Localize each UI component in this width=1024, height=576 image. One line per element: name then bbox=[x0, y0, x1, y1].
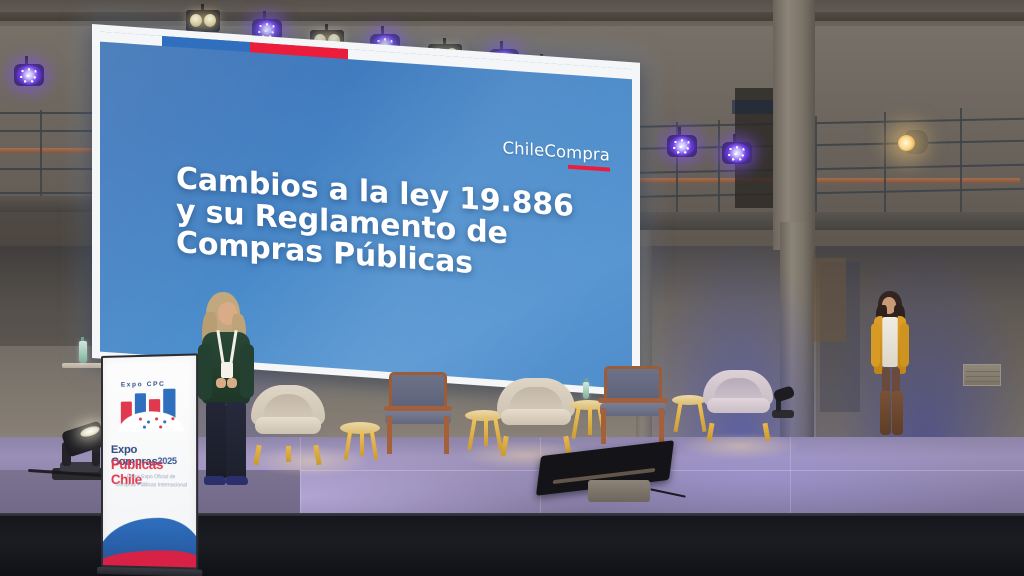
speaker-leg bbox=[226, 402, 246, 480]
stool-leg bbox=[588, 407, 592, 435]
wooden-armchair bbox=[600, 366, 666, 440]
logo-dot bbox=[159, 425, 162, 428]
stool-leg bbox=[484, 418, 488, 446]
water-bottle bbox=[583, 382, 589, 399]
armchair-seat bbox=[501, 409, 571, 426]
chair-leg bbox=[659, 408, 664, 444]
par-led-light bbox=[12, 62, 46, 88]
par-led-light bbox=[665, 133, 699, 159]
projection-screen: ChileCompra Cambios a la ley 19.886 y su… bbox=[92, 24, 640, 397]
chair-seat bbox=[600, 403, 666, 416]
attendee-boot bbox=[880, 391, 891, 435]
speaker-shoe bbox=[226, 476, 248, 485]
logo-dot bbox=[147, 420, 150, 423]
mezzanine-rail-post bbox=[815, 116, 817, 212]
logo-dot bbox=[163, 420, 166, 423]
concrete-column-upper bbox=[773, 0, 815, 250]
chair-leg bbox=[601, 408, 606, 444]
chair-leg bbox=[444, 416, 449, 454]
logo-dot bbox=[143, 426, 146, 429]
tub-armchair bbox=[497, 378, 575, 442]
chair-seat bbox=[385, 410, 451, 424]
speaker-arm bbox=[240, 344, 254, 398]
banner-subtitle-line-2: Compras Públicas Internacional bbox=[113, 482, 190, 490]
speaker-arm bbox=[198, 344, 212, 400]
chair-leg bbox=[387, 416, 392, 454]
attendee-arm bbox=[900, 323, 909, 367]
logo-dot bbox=[155, 417, 158, 420]
par-led-light bbox=[720, 140, 754, 166]
warm-spotlight bbox=[898, 130, 928, 156]
water-bottle bbox=[79, 341, 87, 363]
chair-armrest bbox=[384, 406, 452, 411]
banner-frame: Expo CPC Expo Compras2025 bbox=[101, 353, 198, 569]
banner-eyebrow: Expo CPC bbox=[121, 381, 166, 389]
speaker-leg bbox=[206, 402, 226, 480]
mezzanine-slab-right bbox=[630, 212, 1024, 230]
slide-surface: ChileCompra Cambios a la ley 19.886 y su… bbox=[100, 32, 632, 390]
logo-dot bbox=[171, 417, 174, 420]
mezzanine-rail-post bbox=[884, 112, 886, 212]
wall-vent bbox=[963, 364, 1001, 386]
blinder-light bbox=[186, 10, 220, 32]
attendee-person bbox=[868, 291, 912, 443]
speaker-badge bbox=[221, 362, 233, 378]
banner-face: Expo CPC Expo Compras2025 bbox=[103, 355, 196, 567]
monitor-base-block bbox=[588, 480, 650, 502]
mezzanine-rail-post bbox=[960, 108, 962, 212]
floor-light-pool bbox=[680, 432, 800, 460]
expo-banner: Expo CPC Expo Compras2025 bbox=[101, 353, 198, 569]
storage-crate bbox=[812, 258, 846, 342]
side-table bbox=[62, 363, 104, 368]
chair-armrest bbox=[598, 398, 668, 403]
attendee-dress bbox=[881, 317, 899, 367]
expo-logo-mark bbox=[119, 388, 184, 431]
conference-stage-photo: ChileCompra Cambios a la ley 19.886 y su… bbox=[0, 0, 1024, 576]
speaker-person bbox=[196, 292, 254, 492]
mezzanine-warm-strip-right bbox=[640, 178, 1020, 183]
banner-subtitle: Única Expo Oficial de Compras Públicas I… bbox=[113, 474, 190, 490]
tub-armchair bbox=[251, 385, 325, 451]
mezzanine-rail-post bbox=[40, 110, 42, 196]
logo-dot bbox=[139, 418, 142, 421]
armchair-seat bbox=[707, 398, 770, 413]
mezzanine-rail-post bbox=[718, 120, 720, 212]
speaker-hand bbox=[216, 378, 226, 388]
speaker-hand bbox=[227, 378, 237, 388]
upper-sign bbox=[732, 100, 776, 114]
speaker-shoe bbox=[204, 476, 226, 485]
armchair-seat bbox=[255, 417, 322, 434]
attendee-boot bbox=[892, 391, 903, 435]
tub-armchair bbox=[703, 370, 773, 428]
attendee-arm bbox=[871, 323, 880, 367]
screen-frame: ChileCompra Cambios a la ley 19.886 y su… bbox=[92, 24, 640, 397]
armchair-leg bbox=[286, 446, 291, 462]
ceiling-beam bbox=[0, 12, 1024, 21]
stool-leg bbox=[360, 430, 364, 456]
